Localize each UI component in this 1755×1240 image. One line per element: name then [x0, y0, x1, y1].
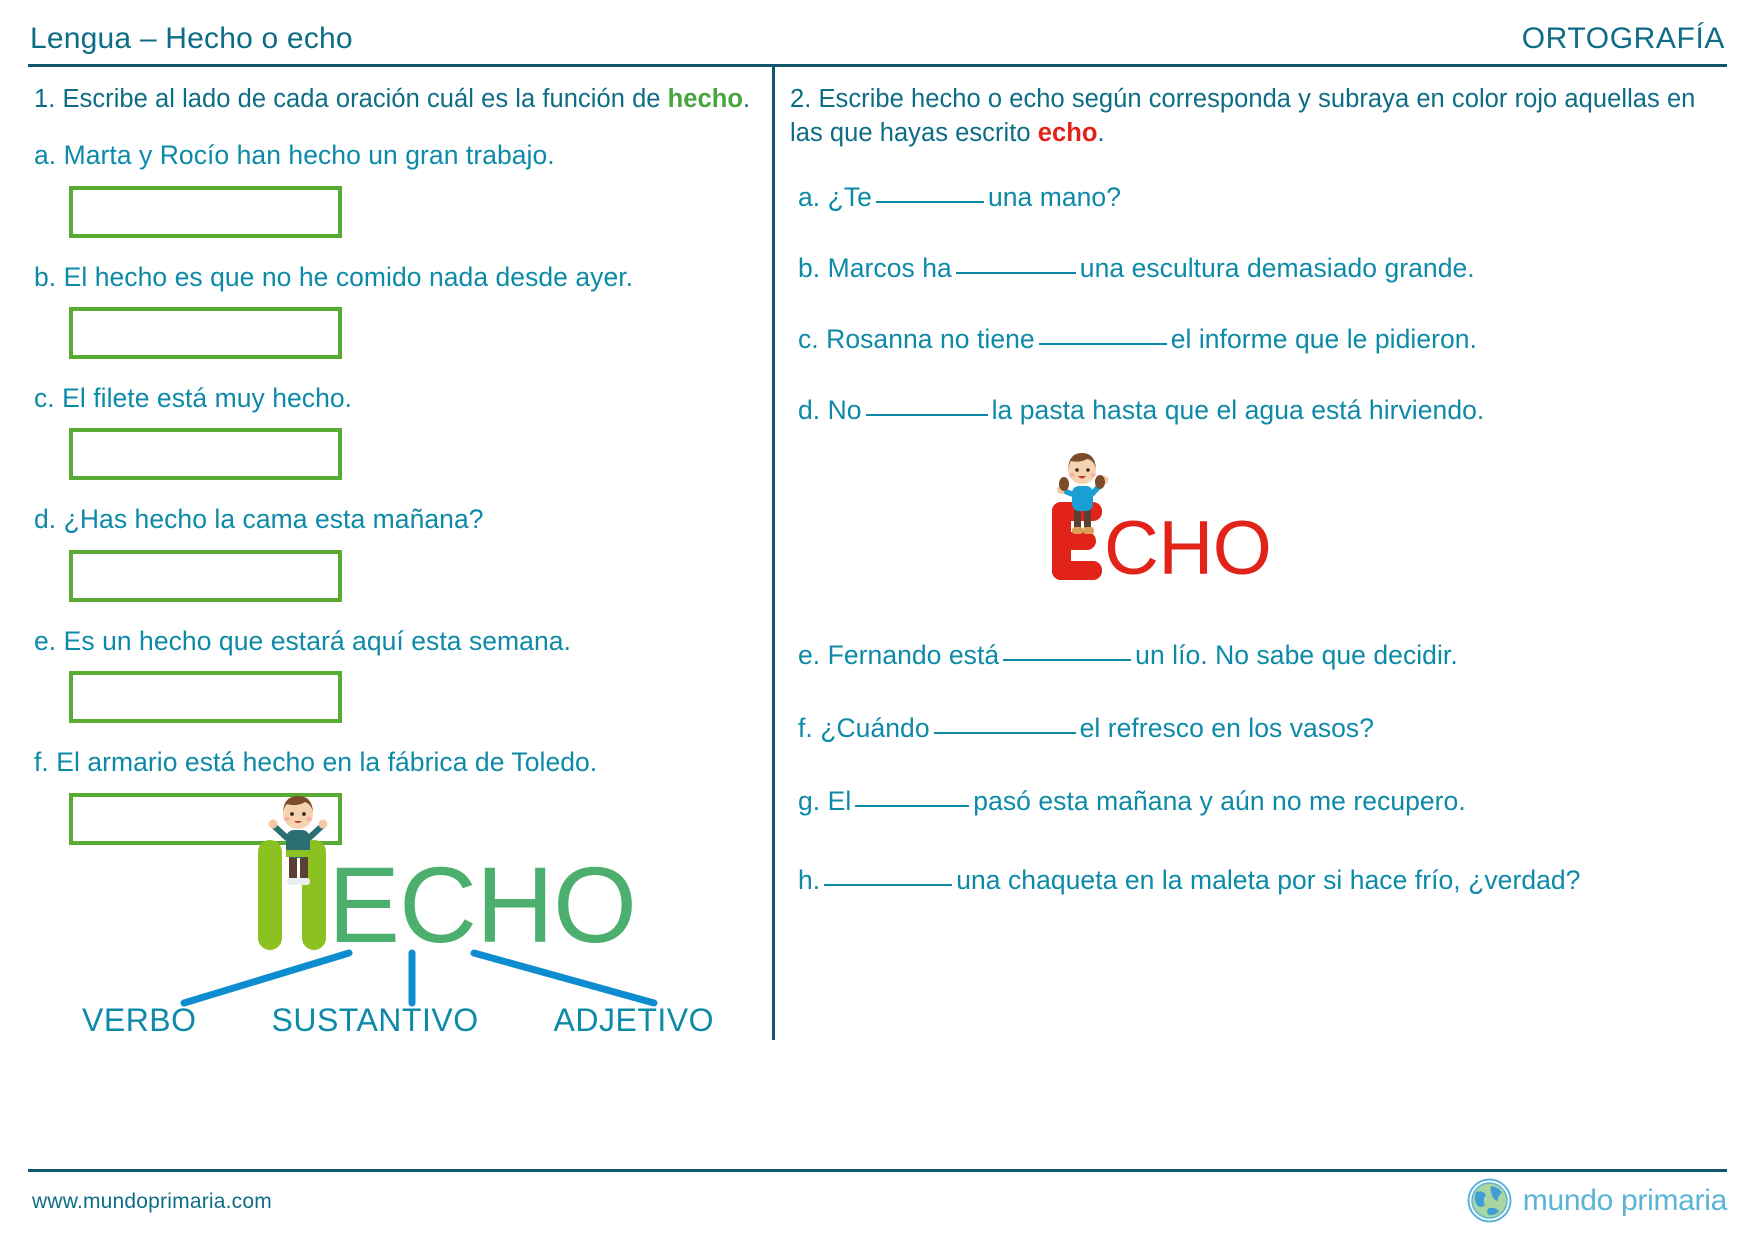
item-label: g. — [798, 786, 820, 816]
exercise-1-column: 1. Escribe al lado de cada oración cuál … — [34, 82, 762, 845]
item-label: f. — [798, 713, 813, 743]
item-text-before: Rosanna no tiene — [826, 324, 1035, 354]
exercise-2-prompt-before: 2. Escribe hecho o echo según correspond… — [790, 85, 1695, 147]
item-text-before: El — [828, 786, 852, 816]
exercise-1-item-b: b. El hecho es que no he comido nada des… — [34, 260, 762, 359]
item-sentence: c. El filete está muy hecho. — [34, 381, 762, 415]
item-text-before: No — [828, 395, 862, 425]
exercise-1-item-a: a. Marta y Rocío han hecho un gran traba… — [34, 138, 762, 237]
exercise-2-prompt-after: . — [1097, 119, 1104, 147]
item-text-after: pasó esta mañana y aún no me recupero. — [973, 786, 1465, 816]
page-title: Lengua – Hecho o echo — [30, 22, 353, 56]
hecho-diagram: ECHO — [34, 830, 762, 1040]
item-label: h. — [798, 865, 820, 895]
item-text-before: Fernando está — [828, 640, 1000, 670]
echo-graphic: CHO — [1030, 462, 1330, 592]
item-label: a. — [798, 182, 820, 212]
item-text-after: el informe que le pidieron. — [1171, 324, 1477, 354]
item-text: El armario está hecho en la fábrica de T… — [56, 747, 597, 777]
footer-url[interactable]: www.mundoprimaria.com — [32, 1190, 272, 1214]
exercise-2-item-d: d. Nola pasta hasta que el agua está hir… — [798, 393, 1725, 428]
category-sustantivo: SUSTANTIVO — [271, 1002, 478, 1039]
item-text: ¿Has hecho la cama esta mañana? — [64, 504, 484, 534]
blank-g[interactable] — [855, 805, 969, 807]
exercise-1-item-c: c. El filete está muy hecho. — [34, 381, 762, 480]
item-text-after: el refresco en los vasos? — [1080, 713, 1374, 743]
blank-f[interactable] — [934, 732, 1076, 734]
item-text-after: un lío. No sabe que decidir. — [1135, 640, 1458, 670]
item-text: Marta y Rocío han hecho un gran trabajo. — [64, 140, 555, 170]
answer-box-d[interactable] — [69, 550, 342, 602]
item-text: El filete está muy hecho. — [62, 383, 352, 413]
exercise-2-item-h: h.una chaqueta en la maleta por si hace … — [798, 863, 1725, 898]
blank-a[interactable] — [876, 201, 984, 203]
footer-divider — [28, 1169, 1727, 1172]
answer-box-b[interactable] — [69, 307, 342, 359]
item-text-before: ¿Te — [828, 182, 872, 212]
item-label: c. — [34, 383, 55, 413]
exercise-2-item-e: e. Fernando estáun lío. No sabe que deci… — [798, 638, 1725, 673]
item-text-after: la pasta hasta que el agua está hirviend… — [992, 395, 1485, 425]
brand-name: mundo primaria — [1523, 1184, 1727, 1218]
item-sentence: f. El armario está hecho en la fábrica d… — [34, 745, 762, 779]
column-divider — [772, 64, 775, 1040]
answer-box-e[interactable] — [69, 671, 342, 723]
exercise-1-prompt: 1. Escribe al lado de cada oración cuál … — [34, 82, 762, 116]
item-sentence: d. ¿Has hecho la cama esta mañana? — [34, 502, 762, 536]
exercise-2-item-a: a. ¿Teuna mano? — [798, 180, 1725, 215]
item-sentence: e. Es un hecho que estará aquí esta sema… — [34, 624, 762, 658]
exercise-1-prompt-before: 1. Escribe al lado de cada oración cuál … — [34, 85, 668, 113]
section-label: ORTOGRAFÍA — [1522, 22, 1725, 56]
exercise-2-item-c: c. Rosanna no tieneel informe que le pid… — [798, 322, 1725, 357]
blank-h[interactable] — [824, 884, 952, 886]
girl-character-icon — [1054, 450, 1110, 538]
exercise-2-prompt: 2. Escribe hecho o echo según correspond… — [790, 82, 1725, 150]
page-header: Lengua – Hecho o echo ORTOGRAFÍA — [30, 22, 1725, 68]
exercise-2-keyword: echo — [1038, 119, 1098, 147]
item-text: El hecho es que no he comido nada desde … — [64, 262, 633, 292]
diagram-branch-lines — [34, 948, 762, 1010]
blank-c[interactable] — [1039, 343, 1167, 345]
exercise-1-keyword: hecho — [668, 85, 743, 113]
blank-e[interactable] — [1003, 659, 1131, 661]
item-text-before: ¿Cuándo — [820, 713, 929, 743]
exercise-2-item-b: b. Marcos hauna escultura demasiado gran… — [798, 251, 1725, 286]
item-label: a. — [34, 140, 56, 170]
item-label: e. — [34, 626, 56, 656]
answer-box-a[interactable] — [69, 186, 342, 238]
globe-icon — [1467, 1178, 1512, 1223]
exercise-1-item-d: d. ¿Has hecho la cama esta mañana? — [34, 502, 762, 601]
item-text-before: Marcos ha — [828, 253, 952, 283]
exercise-2-item-g: g. Elpasó esta mañana y aún no me recupe… — [798, 784, 1725, 819]
blank-d[interactable] — [866, 414, 988, 416]
item-text-after: una chaqueta en la maleta por si hace fr… — [956, 865, 1580, 895]
diagram-category-labels: VERBO SUSTANTIVO ADJETIVO — [34, 1002, 762, 1039]
item-text: Es un hecho que estará aquí esta semana. — [64, 626, 571, 656]
category-verbo: VERBO — [82, 1002, 197, 1039]
item-label: b. — [798, 253, 820, 283]
exercise-2-item-f: f. ¿Cuándoel refresco en los vasos? — [798, 711, 1725, 746]
item-label: d. — [34, 504, 56, 534]
item-label: d. — [798, 395, 820, 425]
item-label: c. — [798, 324, 819, 354]
item-sentence: b. El hecho es que no he comido nada des… — [34, 260, 762, 294]
item-label: e. — [798, 640, 820, 670]
worksheet-page: Lengua – Hecho o echo ORTOGRAFÍA 1. Escr… — [0, 0, 1755, 1240]
answer-box-c[interactable] — [69, 428, 342, 480]
boy-character-icon — [267, 792, 329, 892]
exercise-1-item-e: e. Es un hecho que estará aquí esta sema… — [34, 624, 762, 723]
brand-logo[interactable]: mundo primaria — [1467, 1178, 1727, 1223]
hecho-letters-rest: ECHO — [328, 861, 636, 950]
category-adjetivo: ADJETIVO — [554, 1002, 714, 1039]
item-label: b. — [34, 262, 56, 292]
blank-b[interactable] — [956, 272, 1076, 274]
exercise-1-prompt-after: . — [743, 85, 750, 113]
item-text-after: una escultura demasiado grande. — [1080, 253, 1475, 283]
header-divider — [28, 64, 1727, 67]
item-text-after: una mano? — [988, 182, 1121, 212]
item-label: f. — [34, 747, 49, 777]
item-sentence: a. Marta y Rocío han hecho un gran traba… — [34, 138, 762, 172]
echo-letters-rest: CHO — [1104, 519, 1271, 580]
